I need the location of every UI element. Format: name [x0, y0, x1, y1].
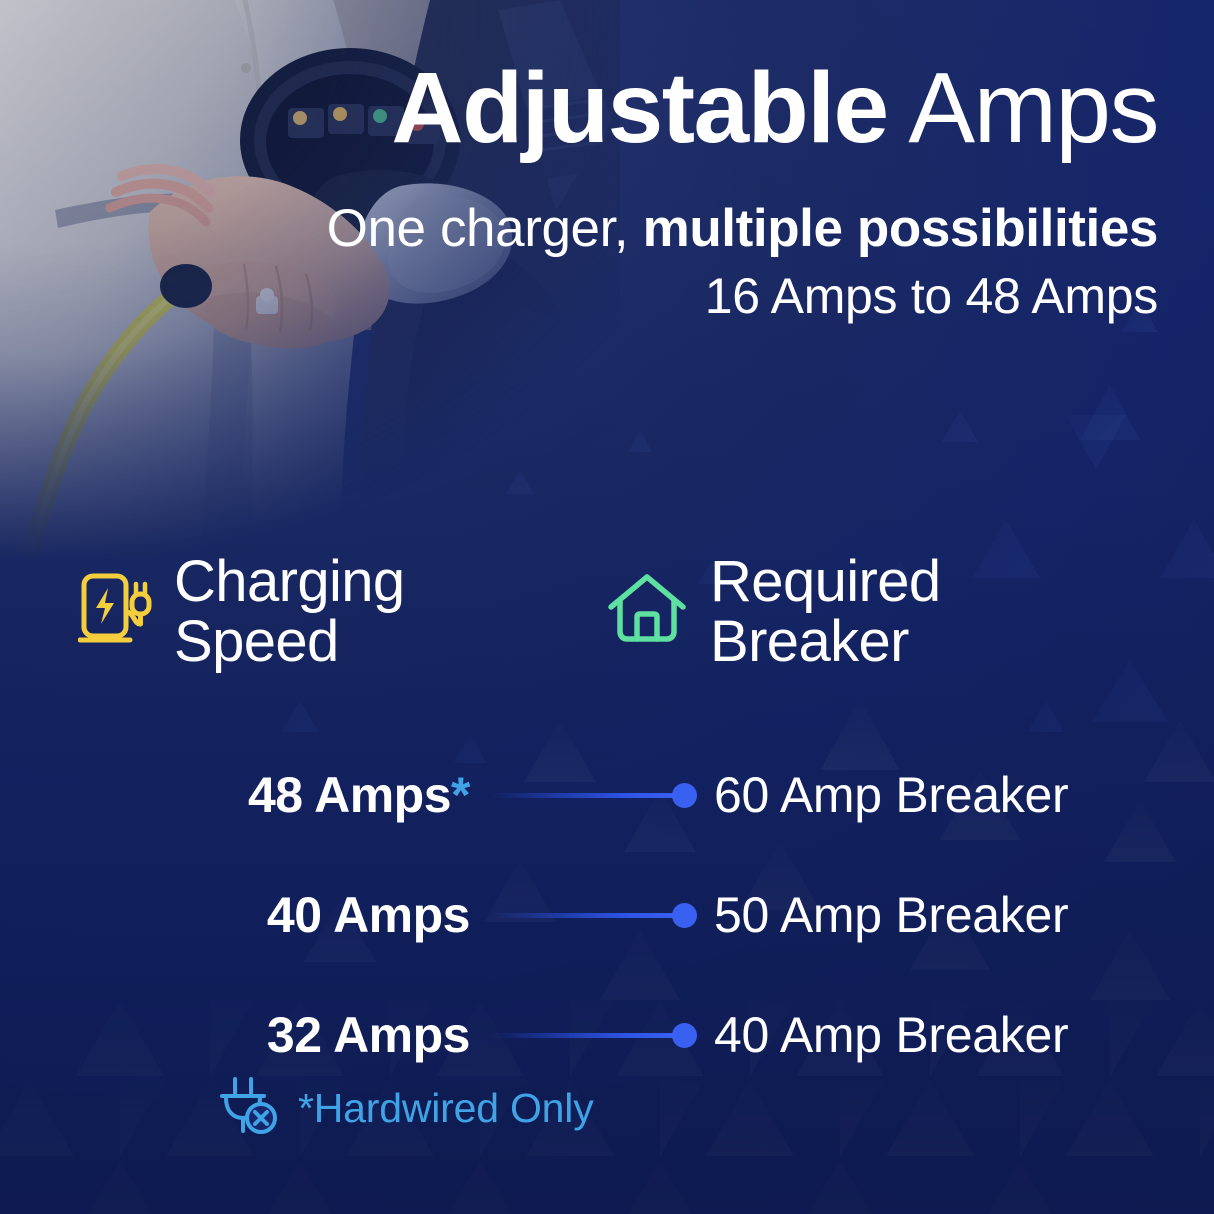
charging-speed-line1: Charging — [174, 549, 405, 614]
connector-dot — [672, 903, 697, 928]
charging-speed-value: 32 Amps — [0, 1006, 470, 1064]
footnote-text: *Hardwired Only — [298, 1085, 594, 1132]
column-headings: Charging Speed Required Breaker — [0, 552, 1214, 712]
title-light: Amps — [888, 52, 1158, 164]
subtitle-range: 16 Amps to 48 Amps — [300, 269, 1158, 324]
headline-block: Adjustable Amps One charger, multiple po… — [300, 58, 1158, 324]
row-amps-0: 48 Amps — [248, 767, 451, 823]
infographic-poster: Adjustable Amps One charger, multiple po… — [0, 0, 1214, 1214]
charging-speed-value: 40 Amps — [0, 886, 470, 944]
row-amps-1: 40 Amps — [267, 887, 470, 943]
required-breaker-value: 40 Amp Breaker — [714, 1006, 1068, 1064]
row-connector — [492, 783, 697, 807]
row-connector — [492, 903, 697, 927]
no-plug-icon — [218, 1075, 280, 1142]
row-connector — [492, 1023, 697, 1047]
column-charging-speed: Charging Speed — [78, 552, 405, 671]
row-amps-2: 32 Amps — [267, 1007, 470, 1063]
connector-dot — [672, 1023, 697, 1048]
required-breaker-line1: Required — [710, 549, 941, 614]
hardwired-asterisk: * — [451, 767, 470, 823]
table-row: 48 Amps* 60 Amp Breaker — [0, 735, 1214, 855]
required-breaker-value: 50 Amp Breaker — [714, 886, 1068, 944]
footnote: *Hardwired Only — [218, 1075, 594, 1142]
subtitle-bold: multiple possibilities — [643, 199, 1158, 258]
connector-line — [492, 793, 681, 798]
connector-dot — [672, 783, 697, 808]
required-breaker-line2: Breaker — [710, 609, 909, 674]
charging-speed-line2: Speed — [174, 609, 339, 674]
subtitle: One charger, multiple possibilities — [300, 200, 1158, 257]
column-charging-speed-label: Charging Speed — [174, 552, 405, 671]
title-bold: Adjustable — [391, 52, 887, 164]
required-breaker-value: 60 Amp Breaker — [714, 766, 1068, 824]
column-required-breaker: Required Breaker — [606, 552, 941, 671]
connector-line — [492, 1033, 681, 1038]
subtitle-light: One charger, — [327, 199, 643, 258]
charging-speed-value: 48 Amps* — [0, 766, 470, 824]
house-icon — [606, 570, 688, 651]
connector-line — [492, 913, 681, 918]
table-row: 32 Amps 40 Amp Breaker — [0, 975, 1214, 1095]
table-row: 40 Amps 50 Amp Breaker — [0, 855, 1214, 975]
column-required-breaker-label: Required Breaker — [710, 552, 941, 671]
page-title: Adjustable Amps — [300, 58, 1158, 158]
ev-charging-station-icon — [78, 570, 152, 651]
amp-breaker-list: 48 Amps* 60 Amp Breaker 40 Amps 50 Amp B… — [0, 735, 1214, 1095]
